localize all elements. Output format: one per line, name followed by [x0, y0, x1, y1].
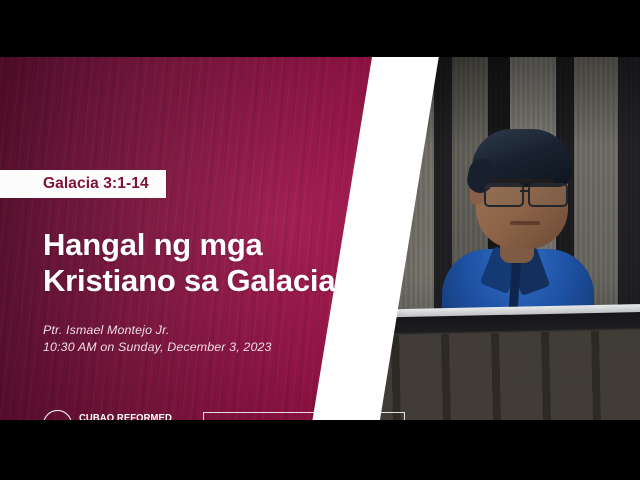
- slide-content-band: Galacia 3:1-14 Hangal ng mga Kristiano s…: [0, 57, 640, 420]
- scripture-reference-text: Galacia 3:1-14: [43, 176, 149, 191]
- church-logo: CRBC CUBAO REFORMED BAPTIST CHURCH: [43, 410, 179, 420]
- slide-footer: CRBC CUBAO REFORMED BAPTIST CHURCH TAGAL…: [43, 410, 405, 420]
- speaker-name: Ptr. Ismael Montejo Jr.: [43, 322, 272, 339]
- sermon-title-line-1: Hangal ng mga: [43, 227, 335, 263]
- service-type-tag: TAGALOG WORSHIP SERVICE: [203, 412, 405, 420]
- sermon-title: Hangal ng mga Kristiano sa Galacia: [43, 227, 335, 299]
- sermon-title-line-2: Kristiano sa Galacia: [43, 263, 335, 299]
- crbc-monogram-icon: CRBC: [43, 410, 72, 420]
- sermon-slide: Galacia 3:1-14 Hangal ng mga Kristiano s…: [0, 0, 640, 480]
- church-name-wordmark: CUBAO REFORMED BAPTIST CHURCH: [79, 413, 172, 420]
- scripture-reference-badge: Galacia 3:1-14: [0, 170, 166, 198]
- service-datetime: 10:30 AM on Sunday, December 3, 2023: [43, 339, 272, 356]
- speaker-and-schedule: Ptr. Ismael Montejo Jr. 10:30 AM on Sund…: [43, 322, 272, 356]
- church-name-line-1: CUBAO REFORMED: [79, 413, 172, 420]
